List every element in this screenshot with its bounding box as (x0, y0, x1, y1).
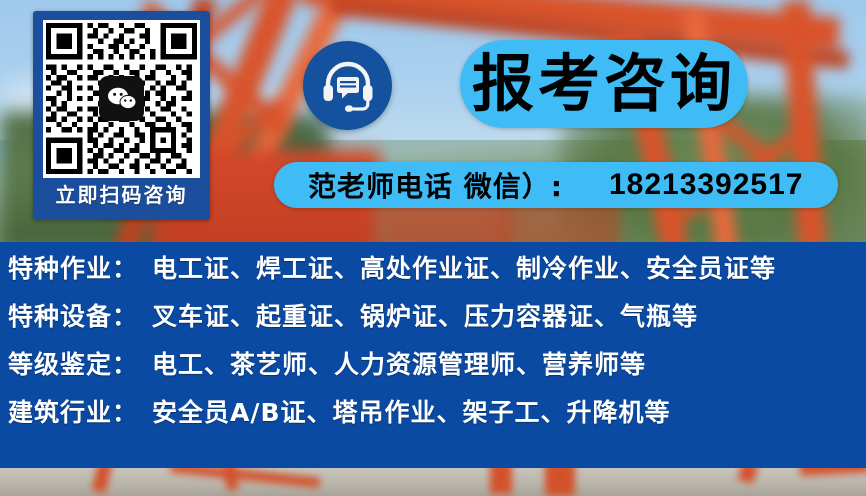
service-line: 特种作业： 电工证、焊工证、高处作业证、制冷作业、安全员证等 (8, 256, 866, 281)
qr-caption: 立即扫码咨询 (56, 186, 188, 206)
wechat-icon (99, 76, 144, 121)
service-items: 电工证、焊工证、高处作业证、制冷作业、安全员证等 (152, 256, 776, 281)
service-items: 电工、茶艺师、人力资源管理师、营养师等 (152, 352, 646, 377)
phone-pill[interactable]: 范老师电话 微信）: 18213392517 (274, 162, 838, 208)
phone-number[interactable]: 18213392517 (609, 168, 804, 202)
service-line: 特种设备： 叉车证、起重证、锅炉证、压力容器证、气瓶等 (8, 304, 866, 329)
service-category: 特种设备： (8, 304, 138, 329)
qrcode-image[interactable] (43, 20, 200, 178)
service-category: 等级鉴定： (8, 352, 138, 377)
phone-label: 范老师电话 微信）: (308, 165, 563, 205)
service-category: 特种作业： (8, 256, 138, 281)
service-category: 建筑行业： (8, 400, 138, 425)
promo-poster: 立即扫码咨询 报考咨询 范老师电话 微信）: 18213392517 特种作业：… (0, 0, 866, 496)
services-panel: 特种作业： 电工证、焊工证、高处作业证、制冷作业、安全员证等 特种设备： 叉车证… (0, 242, 866, 468)
title-text: 报考咨询 (472, 53, 736, 115)
headset-support-icon (303, 41, 392, 130)
headset-glyph (320, 60, 376, 112)
service-line: 建筑行业： 安全员A/B证、塔吊作业、架子工、升降机等 (8, 400, 866, 425)
service-items: 安全员A/B证、塔吊作业、架子工、升降机等 (152, 400, 671, 425)
service-items: 叉车证、起重证、锅炉证、压力容器证、气瓶等 (152, 304, 698, 329)
title-pill: 报考咨询 (460, 40, 748, 128)
bottom-photo-strip (0, 468, 866, 496)
service-line: 等级鉴定： 电工、茶艺师、人力资源管理师、营养师等 (8, 352, 866, 377)
wechat-glyph (107, 86, 137, 112)
qr-card[interactable]: 立即扫码咨询 (33, 11, 210, 220)
